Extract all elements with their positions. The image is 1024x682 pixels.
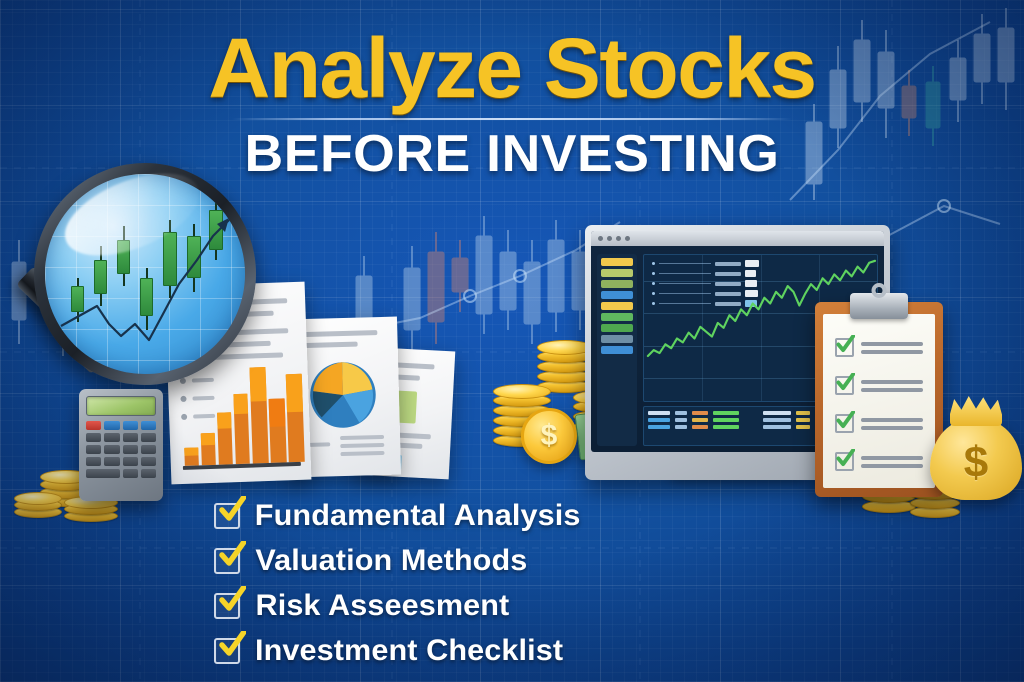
- check-icon[interactable]: [214, 638, 240, 664]
- check-icon: [835, 452, 854, 471]
- sidebar-swatch: [601, 280, 633, 288]
- legend-row: [652, 300, 759, 307]
- calculator-key: [141, 457, 156, 466]
- sidebar-swatch: [601, 258, 633, 266]
- legend-row: [652, 290, 759, 297]
- calculator-key-equals: [141, 469, 156, 478]
- check-icon[interactable]: [214, 548, 240, 574]
- magnifying-glass-icon: [34, 163, 256, 385]
- checklist-item[interactable]: Investment Checklist: [214, 633, 577, 669]
- table-row: [648, 411, 758, 415]
- calculator-key: [141, 445, 156, 454]
- calculator-keypad: [86, 421, 156, 478]
- page-title: Analyze Stocks: [0, 28, 1024, 109]
- checklist-item[interactable]: Fundamental Analysis: [214, 498, 577, 534]
- checklist-item[interactable]: Valuation Methods: [214, 543, 577, 579]
- calculator-key: [104, 457, 119, 466]
- bar: [184, 447, 199, 465]
- sidebar-swatch: [601, 346, 633, 354]
- checklist-item-label: Fundamental Analysis: [255, 499, 581, 533]
- check-icon: [835, 338, 854, 357]
- check-icon: [835, 376, 854, 395]
- calculator-key: [141, 421, 156, 430]
- check-icon[interactable]: [214, 593, 240, 619]
- clipboard-row: [835, 452, 923, 471]
- clipboard-icon: [815, 302, 943, 497]
- window-dot-icon: [625, 236, 630, 241]
- sidebar-swatch: [601, 302, 633, 310]
- calculator-key: [141, 433, 156, 442]
- dollar-coin: $: [521, 408, 577, 464]
- sidebar-swatch: [601, 313, 633, 321]
- calculator-key: [104, 421, 119, 430]
- calculator-key: [123, 445, 138, 454]
- calculator-key-zero: [86, 469, 120, 478]
- legend-row: [652, 260, 759, 267]
- clipboard-ring: [872, 283, 887, 298]
- checklist-item[interactable]: Risk Asseesment: [214, 588, 577, 624]
- check-icon: [835, 414, 854, 433]
- sidebar-swatch: [601, 291, 633, 299]
- chart-legend: [652, 260, 759, 310]
- headline-block: Analyze Stocks BEFORE INVESTING: [0, 28, 1024, 184]
- clipboard-paper: [823, 314, 935, 488]
- calculator-key: [123, 433, 138, 442]
- lens-candle: [209, 174, 223, 374]
- bar: [233, 394, 249, 464]
- calculator-key: [123, 469, 138, 478]
- coin-symbol: $: [541, 419, 558, 453]
- window-dot-icon: [607, 236, 612, 241]
- checklist-item-label: Investment Checklist: [255, 634, 563, 668]
- title-divider: [232, 118, 792, 120]
- calculator-key: [86, 457, 101, 466]
- calculator-key: [86, 433, 101, 442]
- sidebar-swatch: [601, 269, 633, 277]
- poster-canvas: Analyze Stocks BEFORE INVESTING: [0, 0, 1024, 682]
- calculator-icon: [79, 389, 163, 501]
- money-bag-icon: $: [930, 396, 1022, 500]
- window-dot-icon: [598, 236, 603, 241]
- check-icon[interactable]: [214, 503, 240, 529]
- page-subtitle: BEFORE INVESTING: [0, 124, 1024, 184]
- money-bag-body: $: [930, 420, 1022, 500]
- sidebar-swatch: [601, 335, 633, 343]
- bar: [269, 398, 287, 463]
- calculator-key: [104, 445, 119, 454]
- window-titlebar: [591, 231, 884, 246]
- bar: [201, 433, 216, 465]
- table-row: [648, 418, 758, 422]
- clipboard-row: [835, 414, 923, 433]
- calculator-key: [86, 445, 101, 454]
- bar: [286, 374, 305, 463]
- quotes-table-left: [648, 411, 758, 441]
- calculator-key: [123, 457, 138, 466]
- checklist-item-label: Risk Asseesment: [256, 589, 510, 623]
- clipboard-row: [835, 338, 923, 357]
- legend-row: [652, 280, 759, 287]
- calculator-key-clear: [86, 421, 101, 430]
- calculator-display: [86, 396, 156, 416]
- legend-row: [652, 270, 759, 277]
- sidebar-swatch: [601, 324, 633, 332]
- pie-chart: [303, 355, 383, 435]
- money-bag-symbol: $: [964, 438, 988, 488]
- clipboard-row: [835, 376, 923, 395]
- calculator-key: [104, 433, 119, 442]
- calculator-key: [123, 421, 138, 430]
- app-sidebar: [597, 254, 637, 446]
- bar: [217, 412, 233, 464]
- window-dot-icon: [616, 236, 621, 241]
- magnifier-ring: [34, 163, 256, 385]
- money-bag-neck: [950, 396, 1002, 426]
- checklist-item-label: Valuation Methods: [255, 544, 527, 578]
- feature-checklist: Fundamental Analysis Valuation Methods R…: [214, 498, 577, 678]
- table-row: [648, 425, 758, 429]
